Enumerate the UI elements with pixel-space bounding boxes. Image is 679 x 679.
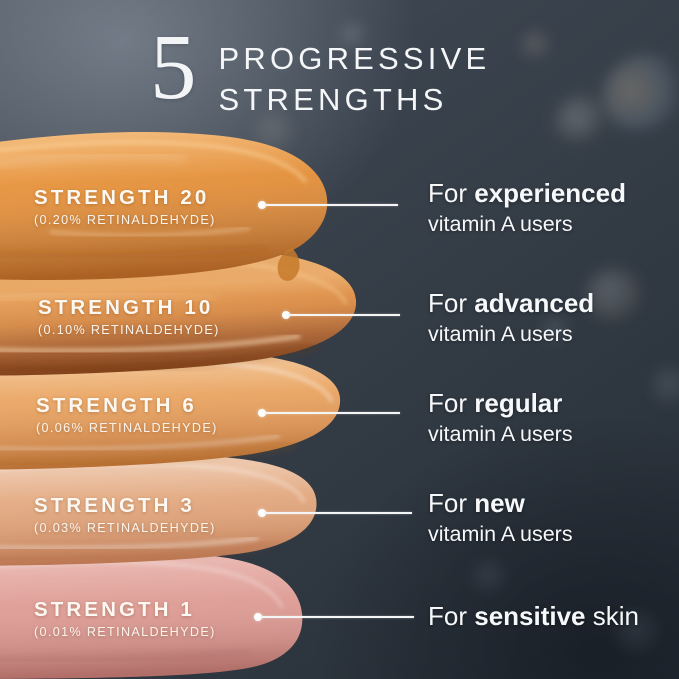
desc-suffix: skin <box>586 601 639 631</box>
description-strength-10: For advanced vitamin A users <box>428 288 594 347</box>
desc-emphasis: sensitive <box>474 601 585 631</box>
desc-prefix: For <box>428 288 474 318</box>
connector-line <box>264 412 400 413</box>
connector-line <box>288 314 400 315</box>
desc-emphasis: regular <box>474 388 562 418</box>
connector-line <box>264 512 412 513</box>
desc-prefix: For <box>428 601 474 631</box>
page-title: 5 PROGRESSIVE STRENGTHS <box>150 28 490 120</box>
desc-emphasis: advanced <box>474 288 594 318</box>
description-strength-20: For experienced vitamin A users <box>428 178 626 237</box>
description-line-1: For new <box>428 488 573 518</box>
desc-prefix: For <box>428 178 474 208</box>
desc-emphasis: new <box>474 488 525 518</box>
description-line-1: For regular <box>428 388 573 418</box>
description-strength-6: For regular vitamin A users <box>428 388 573 447</box>
desc-prefix: For <box>428 488 474 518</box>
connector-strength-3 <box>258 508 412 518</box>
description-strength-3: For new vitamin A users <box>428 488 573 547</box>
connector-strength-10 <box>282 310 400 320</box>
infographic-canvas: 5 PROGRESSIVE STRENGTHS <box>0 0 679 679</box>
description-line-1: For advanced <box>428 288 594 318</box>
connector-strength-1 <box>254 612 414 622</box>
title-text: PROGRESSIVE STRENGTHS <box>219 38 491 120</box>
description-line-1: For sensitive skin <box>428 601 639 631</box>
description-line-2: vitamin A users <box>428 322 594 347</box>
desc-prefix: For <box>428 388 474 418</box>
desc-emphasis: experienced <box>474 178 626 208</box>
title-numeral: 5 <box>150 22 197 113</box>
description-line-2: vitamin A users <box>428 422 573 447</box>
connector-line <box>260 616 414 617</box>
connector-strength-6 <box>258 408 400 418</box>
description-line-1: For experienced <box>428 178 626 208</box>
description-line-2: vitamin A users <box>428 522 573 547</box>
title-line-1: PROGRESSIVE <box>219 38 491 79</box>
description-line-2: vitamin A users <box>428 212 626 237</box>
title-line-2: STRENGTHS <box>219 79 491 120</box>
connector-line <box>264 204 398 205</box>
connector-strength-20 <box>258 200 398 210</box>
description-strength-1: For sensitive skin <box>428 601 639 631</box>
